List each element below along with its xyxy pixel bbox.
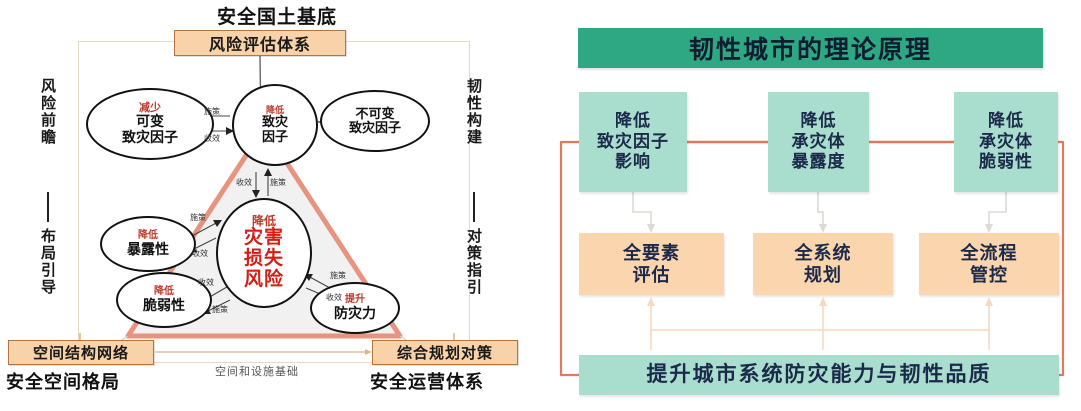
green-box-3-line1: 降低	[988, 111, 1024, 132]
peach-box-full-process-control[interactable]: 全流程 管控	[919, 233, 1059, 295]
node-hazard-factor[interactable]: 降低 致灾 因子	[232, 84, 318, 166]
risk-assessment-box[interactable]: 风险评估体系	[174, 30, 346, 56]
left-vertical-label-bottom: 布局引导	[40, 228, 55, 296]
node-defense-capacity-sub: 提升	[345, 295, 365, 306]
edge-label-effect-4: 收效	[198, 277, 214, 288]
edge-label-policy-1: 施策	[204, 106, 220, 117]
green-box-1-line2: 致灾因子	[597, 132, 669, 153]
edge-label-policy-3: 施策	[190, 212, 206, 223]
right-vertical-divider	[473, 192, 475, 222]
green-bar-outcome[interactable]: 提升城市系统防灾能力与韧性品质	[579, 355, 1059, 395]
right-vertical-label-bottom: 对策指引	[466, 228, 481, 296]
peach-box-2-line1: 全系统	[795, 242, 852, 265]
right-panel-title: 韧性城市的理论原理	[578, 28, 1043, 68]
peach-box-full-system-planning[interactable]: 全系统 规划	[753, 233, 893, 295]
green-box-3-line2: 承灾体	[979, 132, 1033, 153]
left-diagram-panel: 安全国土基底	[0, 0, 540, 411]
node-disaster-loss-risk[interactable]: 降低 灾害 损失 风险	[216, 198, 312, 308]
green-box-1-line1: 降低	[615, 111, 651, 132]
node-defense-capacity[interactable]: 提升 防灾力	[310, 282, 400, 334]
green-box-hazard-impact[interactable]: 降低 致灾因子 影响	[579, 92, 687, 192]
right-flow-panel: 韧性城市的理论原理 降低 致灾因子 影响 降低 承灾体 暴露度 降低 承灾体 脆…	[541, 0, 1081, 411]
right-vertical-label-top: 韧性构建	[466, 78, 481, 146]
edge-label-policy-4: 施策	[212, 304, 228, 315]
node-disaster-loss-risk-line1: 灾害	[244, 228, 284, 249]
space-facility-base-caption: 空间和设施基础	[215, 363, 299, 379]
node-variable-hazard[interactable]: 减少 可变 致灾因子	[86, 88, 214, 160]
green-box-3-line3: 脆弱性	[979, 152, 1033, 173]
edge-label-policy-5: 施策	[330, 270, 346, 281]
peach-box-full-element-assessment[interactable]: 全要素 评估	[579, 233, 724, 295]
green-box-2-line3: 暴露度	[792, 152, 846, 173]
space-structure-network-box[interactable]: 空间结构网络	[8, 340, 154, 365]
node-fragility-line1: 脆弱性	[143, 298, 185, 313]
node-variable-hazard-line2: 致灾因子	[122, 130, 178, 145]
edge-label-policy-2: 施策	[270, 177, 286, 188]
node-variable-hazard-line1: 可变	[136, 114, 164, 129]
node-hazard-factor-line2: 因子	[262, 130, 288, 144]
node-invariable-hazard[interactable]: 不可变 致灾因子	[320, 90, 430, 152]
node-disaster-loss-risk-line3: 风险	[244, 270, 284, 291]
safe-operation-system-caption: 安全运营体系	[370, 368, 484, 394]
node-disaster-loss-risk-line2: 损失	[244, 249, 284, 270]
peach-box-3-line1: 全流程	[961, 242, 1018, 265]
safe-space-pattern-caption: 安全空间格局	[6, 368, 120, 394]
left-vertical-label-top: 风险前瞻	[40, 78, 55, 146]
comprehensive-planning-box[interactable]: 综合规划对策	[372, 340, 518, 365]
edge-label-effect-1: 收效	[204, 133, 220, 144]
green-box-2-line1: 降低	[801, 111, 837, 132]
node-hazard-factor-line1: 致灾	[262, 115, 288, 129]
peach-box-1-line2: 评估	[633, 264, 671, 287]
left-panel-title: 安全国土基底	[182, 2, 372, 29]
slide-canvas: 安全国土基底	[0, 0, 1081, 411]
peach-box-1-line1: 全要素	[623, 242, 680, 265]
green-box-fragility[interactable]: 降低 承灾体 脆弱性	[954, 92, 1058, 192]
node-invariable-hazard-line1: 不可变	[355, 107, 394, 121]
green-box-2-line2: 承灾体	[792, 132, 846, 153]
green-box-exposure[interactable]: 降低 承灾体 暴露度	[768, 92, 869, 192]
node-exposure-line1: 暴露性	[127, 242, 169, 257]
edge-label-effect-5: 收效	[326, 292, 342, 303]
edge-label-effect-3: 收效	[192, 248, 208, 259]
edge-label-effect-2: 收效	[236, 177, 252, 188]
peach-box-3-line2: 管控	[970, 264, 1008, 287]
left-vertical-divider	[47, 192, 49, 222]
node-exposure[interactable]: 降低 暴露性	[100, 216, 196, 272]
node-defense-capacity-line1: 防灾力	[334, 306, 376, 321]
node-invariable-hazard-line2: 致灾因子	[349, 121, 401, 135]
node-fragility-sub: 降低	[154, 287, 174, 298]
green-box-1-line3: 影响	[615, 152, 651, 173]
peach-box-2-line2: 规划	[804, 264, 842, 287]
node-exposure-sub: 降低	[138, 231, 158, 242]
